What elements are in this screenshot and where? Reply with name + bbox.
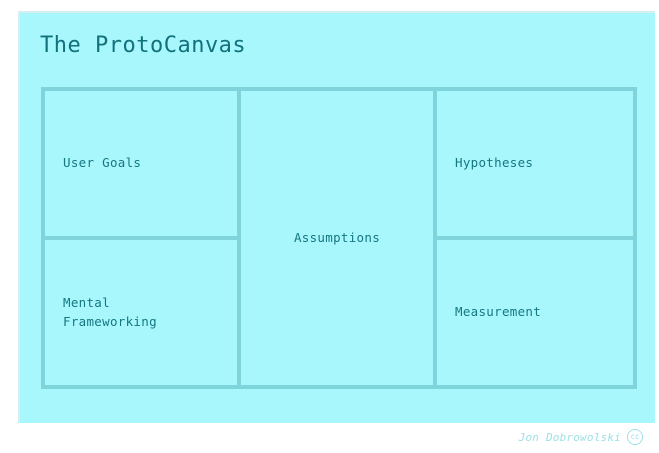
cell-assumptions-label: Assumptions: [294, 229, 380, 248]
cell-hypotheses[interactable]: Hypotheses: [437, 91, 633, 240]
creative-commons-icon: cc: [627, 429, 643, 445]
grid-column-left: User Goals Mental Frameworking: [45, 91, 241, 385]
cell-mental-frameworking-label: Mental Frameworking: [63, 294, 157, 332]
author-name: Jon Dobrowolski: [519, 431, 621, 444]
page-title: The ProtoCanvas: [40, 33, 246, 58]
cell-user-goals[interactable]: User Goals: [45, 91, 237, 240]
grid-column-right: Hypotheses Measurement: [437, 91, 633, 385]
canvas-grid: User Goals Mental Frameworking Assumptio…: [41, 87, 637, 389]
cell-mental-frameworking[interactable]: Mental Frameworking: [45, 240, 237, 385]
cell-measurement-label: Measurement: [455, 303, 541, 322]
grid-column-middle: Assumptions: [241, 91, 437, 385]
cell-assumptions[interactable]: Assumptions: [241, 91, 433, 385]
protocanvas-card: The ProtoCanvas User Goals Mental Framew…: [18, 11, 655, 423]
cell-measurement[interactable]: Measurement: [437, 240, 633, 385]
cell-user-goals-label: User Goals: [63, 154, 141, 173]
footer-attribution: Jon Dobrowolski cc: [519, 429, 643, 445]
cell-hypotheses-label: Hypotheses: [455, 154, 533, 173]
